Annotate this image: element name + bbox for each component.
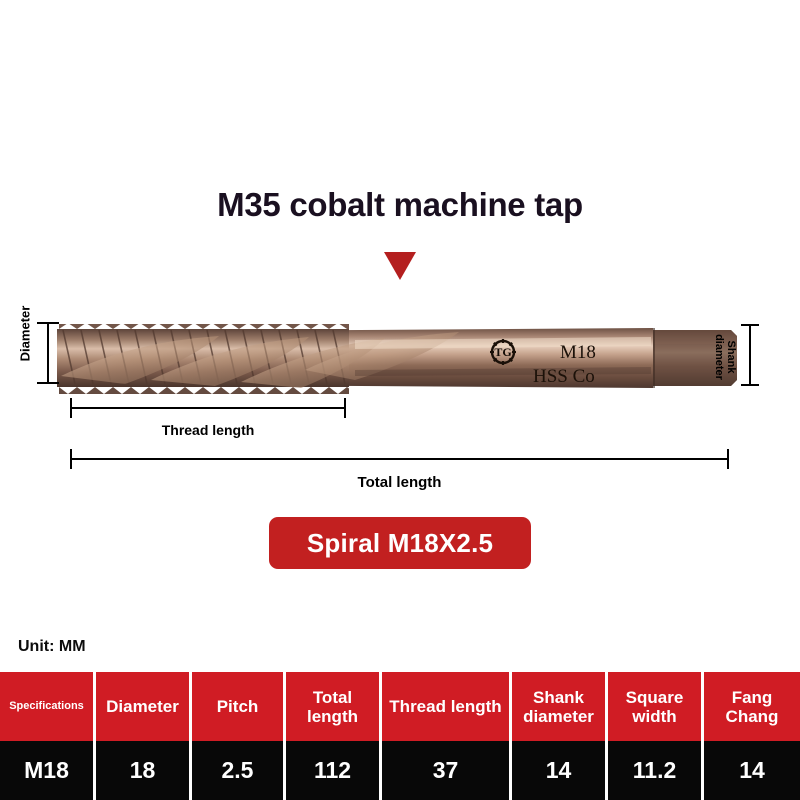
cell-diameter: 18 [96, 741, 192, 800]
machine-tap-illustration: TG M18 HSS Co [55, 310, 755, 420]
header-total-length: Total length [286, 672, 382, 741]
header-diameter: Diameter [96, 672, 192, 741]
shank-diameter-dimension-line [749, 324, 751, 386]
total-length-label: Total length [70, 474, 729, 491]
specifications-table: Specifications Diameter Pitch Total leng… [0, 672, 800, 800]
table-header-row: Specifications Diameter Pitch Total leng… [0, 672, 800, 741]
cell-specifications: M18 [0, 741, 96, 800]
product-diagram: TG M18 HSS Co Diameter Shank diameter Th… [0, 300, 800, 500]
cell-thread-length: 37 [382, 741, 512, 800]
shank-diameter-label: Shank diameter [713, 326, 737, 388]
table-row: M18 18 2.5 112 37 14 11.2 14 [0, 741, 800, 800]
header-square-width: Square width [608, 672, 704, 741]
diameter-dimension-line [47, 322, 49, 384]
diameter-label: Diameter [18, 292, 33, 376]
thread-length-dimension-line [70, 407, 346, 409]
header-pitch: Pitch [192, 672, 286, 741]
header-specifications: Specifications [0, 672, 96, 741]
red-down-triangle-icon [384, 252, 416, 280]
cell-shank-diameter: 14 [512, 741, 608, 800]
cell-square-width: 11.2 [608, 741, 704, 800]
product-variant-badge: Spiral M18X2.5 [269, 517, 531, 569]
header-shank-diameter: Shank diameter [512, 672, 608, 741]
cell-fang-chang: 14 [704, 741, 800, 800]
total-length-dimension-line [70, 458, 729, 460]
product-variant-label: Spiral M18X2.5 [307, 528, 493, 559]
header-thread-length: Thread length [382, 672, 512, 741]
unit-note: Unit: MM [18, 638, 86, 656]
cell-pitch: 2.5 [192, 741, 286, 800]
svg-text:TG: TG [494, 345, 511, 359]
engraving-size: M18 [560, 342, 596, 363]
page-title: M35 cobalt machine tap [0, 186, 800, 224]
thread-length-label: Thread length [70, 422, 346, 438]
cell-total-length: 112 [286, 741, 382, 800]
header-fang-chang: Fang Chang [704, 672, 800, 741]
engraving-material: HSS Co [533, 366, 595, 387]
